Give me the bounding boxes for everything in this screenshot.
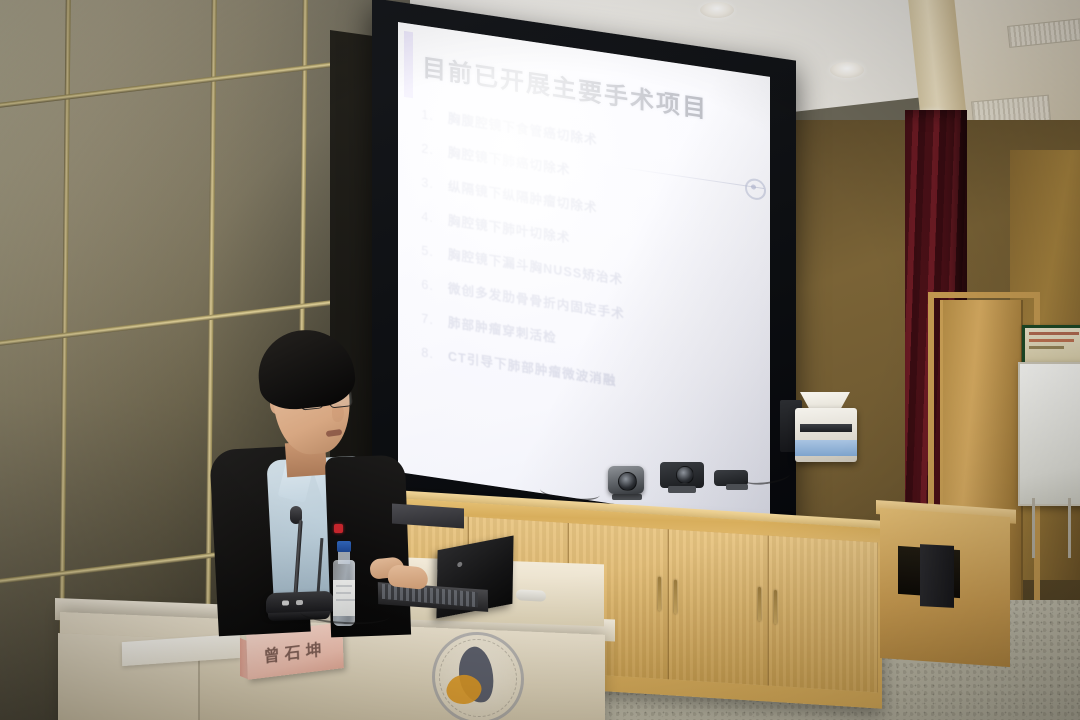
list-item-number: 3. bbox=[420, 175, 434, 191]
list-item-text: 胸腹腔镜下食管癌切除术 bbox=[448, 107, 598, 148]
mouse[interactable] bbox=[516, 589, 546, 602]
laptop-logo-icon bbox=[457, 561, 462, 567]
list-item-text: 纵隔镜下纵隔肿瘤切除术 bbox=[448, 175, 598, 216]
bottle-label-line bbox=[336, 599, 355, 601]
wall-notice-sign bbox=[1022, 325, 1080, 365]
sign-text-line bbox=[1029, 332, 1079, 335]
list-item-text: CT引导下肺部肿瘤微波消融 bbox=[448, 345, 616, 389]
list-item-number: 2. bbox=[420, 141, 434, 157]
conference-room-photo: 目前已开展主要手术项目 1. 胸腹腔镜下食管癌切除术 2. 胸腔镜下肺癌切除术 … bbox=[0, 0, 1080, 720]
bottle-label-line bbox=[336, 592, 351, 594]
list-item-text: 肺部肿瘤穿刺活检 bbox=[448, 311, 557, 346]
list-item-number: 8. bbox=[420, 345, 434, 361]
list-item-number: 4. bbox=[420, 209, 434, 225]
list-item-text: 胸腔镜下肺叶切除术 bbox=[448, 209, 570, 246]
bottle-label-line bbox=[336, 585, 352, 587]
whiteboard-leg bbox=[1032, 498, 1035, 558]
sign-text-line bbox=[1029, 339, 1074, 342]
list-item-text: 胸腔镜下肺癌切除术 bbox=[448, 141, 570, 178]
downlight-icon bbox=[700, 2, 734, 18]
list-item-number: 6. bbox=[420, 277, 434, 293]
cabinet-door[interactable] bbox=[768, 536, 878, 693]
sign-text-line bbox=[1029, 346, 1064, 349]
lapel-pin bbox=[334, 524, 343, 533]
bottle-cap bbox=[337, 541, 351, 552]
camera-stand bbox=[612, 494, 642, 500]
camera-lens-icon bbox=[618, 472, 637, 491]
camera-stand bbox=[726, 484, 748, 490]
microphone-indicator bbox=[282, 600, 289, 605]
cabinet-door[interactable] bbox=[668, 529, 768, 685]
whiteboard bbox=[1018, 362, 1080, 506]
cabinet-handle[interactable] bbox=[774, 590, 777, 624]
bottle-neck bbox=[338, 550, 350, 564]
camera-stand bbox=[668, 486, 696, 493]
projection-screen-surface: 目前已开展主要手术项目 1. 胸腹腔镜下食管癌切除术 2. 胸腔镜下肺癌切除术 … bbox=[398, 22, 770, 527]
downlight-icon bbox=[830, 62, 864, 78]
printer-slot bbox=[800, 424, 852, 432]
nameplate-text: 曾石坤 bbox=[263, 635, 327, 667]
list-item-number: 5. bbox=[420, 243, 434, 259]
cabinet-handle[interactable] bbox=[758, 587, 761, 621]
computer-tower bbox=[920, 544, 954, 608]
cabinet-handle[interactable] bbox=[658, 577, 661, 611]
whiteboard-leg bbox=[1068, 498, 1071, 558]
list-item-number: 1. bbox=[420, 107, 434, 123]
list-item-number: 7. bbox=[420, 311, 434, 327]
cabinet-handle[interactable] bbox=[674, 580, 677, 614]
slide-accent-bar bbox=[404, 31, 413, 98]
slide-bullet-list: 1. 胸腹腔镜下食管癌切除术 2. 胸腔镜下肺癌切除术 3. 纵隔镜下纵隔肿瘤切… bbox=[420, 103, 756, 425]
microphone-indicator bbox=[296, 600, 303, 605]
camera-lens-icon bbox=[676, 466, 694, 484]
printer-body-accent bbox=[795, 440, 857, 456]
